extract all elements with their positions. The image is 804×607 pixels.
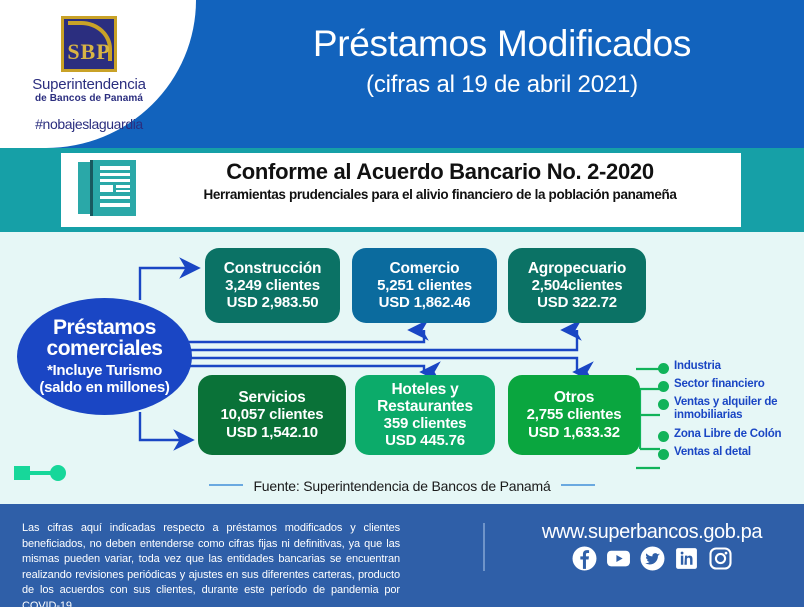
hub-note1: *Incluye Turismo: [47, 362, 162, 379]
title-block: Préstamos Modificados (cifras al 19 de a…: [200, 24, 804, 99]
sector-clients: 2,504clientes: [532, 277, 623, 294]
legend-item-ventas-alquiler-inmobiliarias: Ventas y alquiler de inmobiliarias: [658, 396, 804, 422]
banner-text: Conforme al Acuerdo Bancario No. 2-2020 …: [150, 158, 730, 202]
sector-box-comercio[interactable]: Comercio 5,251 clientes USD 1,862.46: [352, 248, 497, 323]
legend-label: Industria: [674, 360, 721, 373]
hub-note2: (saldo en millones): [39, 379, 169, 396]
logo-name-line1: Superintendencia: [0, 76, 178, 93]
documents-icon: [78, 160, 140, 218]
sbp-logo: SBP Superintendencia de Bancos de Panamá…: [0, 16, 178, 132]
sbp-logo-mark: SBP: [61, 16, 117, 72]
sector-box-agropecuario[interactable]: Agropecuario 2,504clientes USD 322.72: [508, 248, 646, 323]
documents-icon-front-sheet: [90, 160, 136, 216]
instagram-icon[interactable]: [708, 546, 733, 571]
sector-clients: 3,249 clientes: [225, 277, 320, 294]
sector-title: Construcción: [224, 260, 322, 277]
page-subtitle: (cifras al 19 de abril 2021): [200, 71, 804, 99]
otros-legend: Industria Sector financiero Ventas y alq…: [658, 360, 804, 464]
sector-clients: 359 clientes: [384, 415, 467, 432]
source-dash-right: [561, 484, 595, 486]
source-text: Fuente: Superintendencia de Bancos de Pa…: [253, 478, 550, 494]
sector-title-line2: Restaurantes: [377, 398, 473, 415]
legend-item-sector-financiero: Sector financiero: [658, 378, 804, 392]
sector-title: Agropecuario: [528, 260, 626, 277]
banner-rule-left: [56, 153, 61, 227]
logo-initials: SBP: [64, 39, 114, 65]
legend-dot-icon: [658, 399, 669, 410]
sector-title: Comercio: [390, 260, 460, 277]
hub-title-line1: Préstamos: [53, 317, 156, 338]
sector-box-construccion[interactable]: Construcción 3,249 clientes USD 2,983.50: [205, 248, 340, 323]
banner-rule-right: [741, 153, 746, 227]
footer-disclaimer: Las cifras aquí indicadas respecto a pré…: [22, 521, 400, 607]
sector-amount: USD 2,983.50: [227, 294, 319, 311]
sector-amount: USD 322.72: [537, 294, 617, 311]
sector-title-line1: Hoteles y: [391, 381, 458, 398]
sector-title: Otros: [554, 389, 594, 406]
sector-box-servicios[interactable]: Servicios 10,057 clientes USD 1,542.10: [198, 375, 346, 455]
twitter-icon[interactable]: [640, 546, 665, 571]
sector-amount: USD 1,542.10: [226, 424, 318, 441]
legend-label: Sector financiero: [674, 378, 765, 391]
legend-dot-icon: [658, 363, 669, 374]
sector-title: Servicios: [238, 389, 305, 406]
legend-label: Ventas al detal: [674, 446, 751, 459]
linkedin-icon[interactable]: [674, 546, 699, 571]
sector-clients: 5,251 clientes: [377, 277, 472, 294]
legend-item-ventas-al-detal: Ventas al detal: [658, 446, 804, 460]
logo-name-line2: de Bancos de Panamá: [0, 93, 178, 104]
infographic-page: SBP Superintendencia de Bancos de Panamá…: [0, 0, 804, 607]
legend-dot-icon: [658, 381, 669, 392]
legend-item-zona-libre-colon: Zona Libre de Colón: [658, 428, 804, 442]
source-dash-left: [209, 484, 243, 486]
legend-item-industria: Industria: [658, 360, 804, 374]
sector-clients: 2,755 clientes: [527, 406, 622, 423]
hub-title-line2: comerciales: [47, 338, 163, 359]
sector-box-otros[interactable]: Otros 2,755 clientes USD 1,633.32: [508, 375, 640, 455]
page-title: Préstamos Modificados: [200, 24, 804, 65]
footer-website[interactable]: www.superbancos.gob.pa: [510, 521, 794, 544]
sector-amount: USD 1,633.32: [528, 424, 620, 441]
legend-dot-icon: [658, 431, 669, 442]
sector-box-hoteles-restaurantes[interactable]: Hoteles y Restaurantes 359 clientes USD …: [355, 375, 495, 455]
sector-amount: USD 1,862.46: [379, 294, 471, 311]
footer-divider: [483, 523, 485, 571]
campaign-hashtag: #nobajeslaguardia: [0, 116, 178, 132]
hub-prestamos-comerciales: Préstamos comerciales *Incluye Turismo (…: [17, 298, 192, 415]
source-line: Fuente: Superintendencia de Bancos de Pa…: [0, 478, 804, 494]
banner-subtitle: Herramientas prudenciales para el alivio…: [150, 187, 730, 202]
youtube-icon[interactable]: [606, 546, 631, 571]
banner-title: Conforme al Acuerdo Bancario No. 2-2020: [150, 158, 730, 186]
legend-label: Ventas y alquiler de inmobiliarias: [674, 396, 804, 422]
footer-social-links: [510, 546, 794, 571]
sector-clients: 10,057 clientes: [221, 406, 324, 423]
facebook-icon[interactable]: [572, 546, 597, 571]
header: SBP Superintendencia de Bancos de Panamá…: [0, 0, 804, 148]
legend-label: Zona Libre de Colón: [674, 428, 781, 441]
sector-amount: USD 445.76: [385, 432, 465, 449]
legend-dot-icon: [658, 449, 669, 460]
